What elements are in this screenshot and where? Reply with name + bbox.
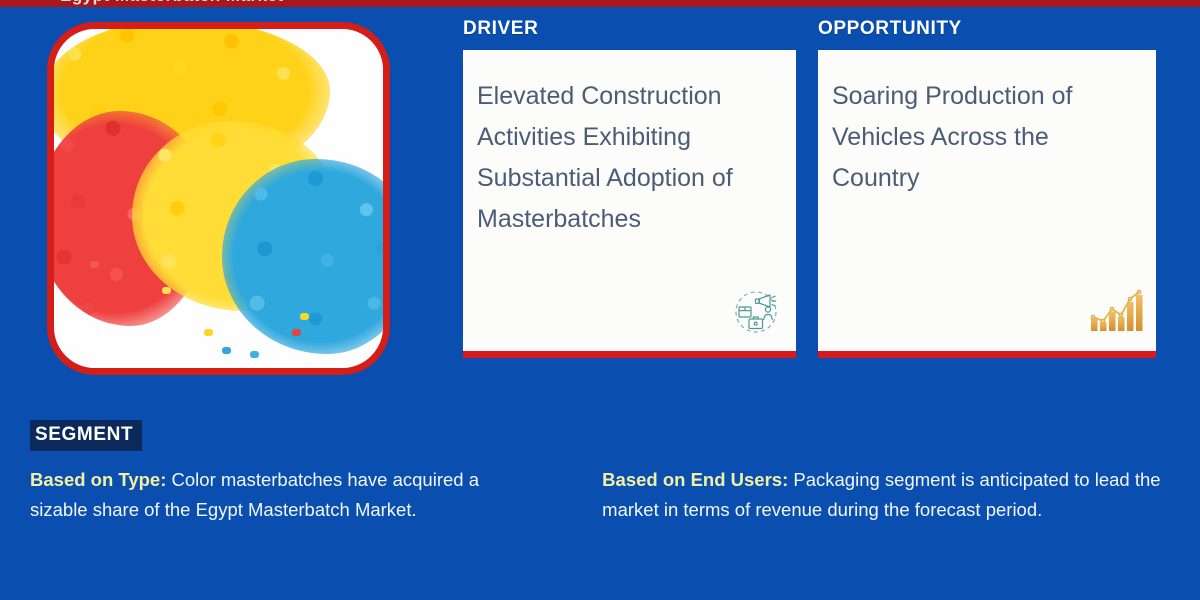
opportunity-card-text: Soaring Production of Vehicles Across th… <box>832 76 1134 199</box>
top-band-partial-title: Egypt Masterbatch Market <box>60 0 284 6</box>
pellet-speck <box>222 347 231 354</box>
product-image <box>47 22 390 375</box>
driver-heading: DRIVER <box>463 18 796 40</box>
top-red-band: Egypt Masterbatch Market <box>0 0 1200 7</box>
pellet-cluster-blue <box>222 159 390 354</box>
segment-tag: SEGMENT <box>30 420 142 451</box>
pellet-speck <box>250 351 259 358</box>
driver-column: DRIVER Elevated Construction Activities … <box>463 18 796 358</box>
segment-columns: Based on Type: Color masterbatches have … <box>30 465 1170 525</box>
plastic-pellets-photo <box>54 29 383 368</box>
pellet-speck <box>162 287 171 294</box>
segment-text: Based on End Users: Packaging segment is… <box>602 465 1170 525</box>
pellet-speck <box>204 329 213 336</box>
segment-label: Based on End Users: <box>602 469 788 490</box>
opportunity-heading: OPPORTUNITY <box>818 18 1156 40</box>
pellet-speck <box>90 261 99 268</box>
segment-item-based-on-end-users: Based on End Users: Packaging segment is… <box>602 465 1170 525</box>
segment-item-based-on-type: Based on Type: Color masterbatches have … <box>30 465 520 525</box>
segment-text: Based on Type: Color masterbatches have … <box>30 465 520 525</box>
pellet-speck <box>292 329 301 336</box>
driver-card: Elevated Construction Activities Exhibit… <box>463 50 796 358</box>
segment-label: Based on Type: <box>30 469 166 490</box>
opportunity-card: Soaring Production of Vehicles Across th… <box>818 50 1156 358</box>
pellet-speck <box>300 313 309 320</box>
segment-block: SEGMENT Based on Type: Color masterbatch… <box>30 420 1170 525</box>
marketing-network-icon <box>728 287 784 337</box>
driver-card-text: Elevated Construction Activities Exhibit… <box>477 76 774 240</box>
growth-bar-chart-icon <box>1088 287 1144 337</box>
infographic-root: Egypt Masterbatch Market DRIVER Elevated… <box>0 0 1200 600</box>
opportunity-column: OPPORTUNITY Soaring Production of Vehicl… <box>818 18 1156 358</box>
